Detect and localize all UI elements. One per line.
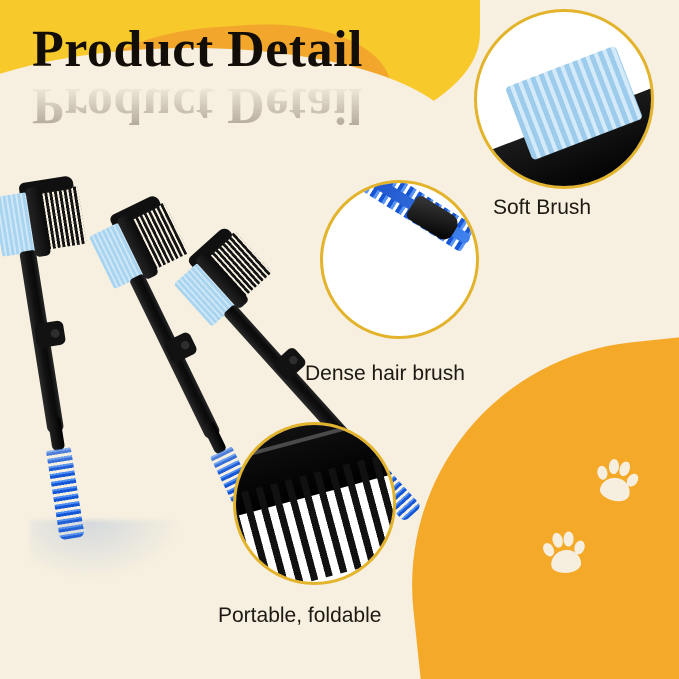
paw-toe [563,531,574,546]
tool-head [0,181,85,260]
callout-label-portable-foldable: Portable, foldable [218,604,381,628]
callout-label-soft-brush: Soft Brush [493,196,591,220]
paw-toe [608,459,619,475]
product-reflection [30,520,180,578]
callout-circle-dense-hair-brush [320,180,479,339]
paw-print-icon [541,528,590,578]
paw-toe [551,532,564,549]
callout-circle-portable-foldable [233,422,396,585]
tool-head [177,229,273,325]
callout-circle-soft-brush [474,9,654,189]
paw-print-icon [591,454,644,508]
product-detail-poster: Product Detail Product Detail [0,0,679,679]
tool-hinge [34,320,67,349]
callout-label-dense-hair-brush: Dense hair brush [305,362,465,386]
page-title: Product Detail [32,24,363,76]
